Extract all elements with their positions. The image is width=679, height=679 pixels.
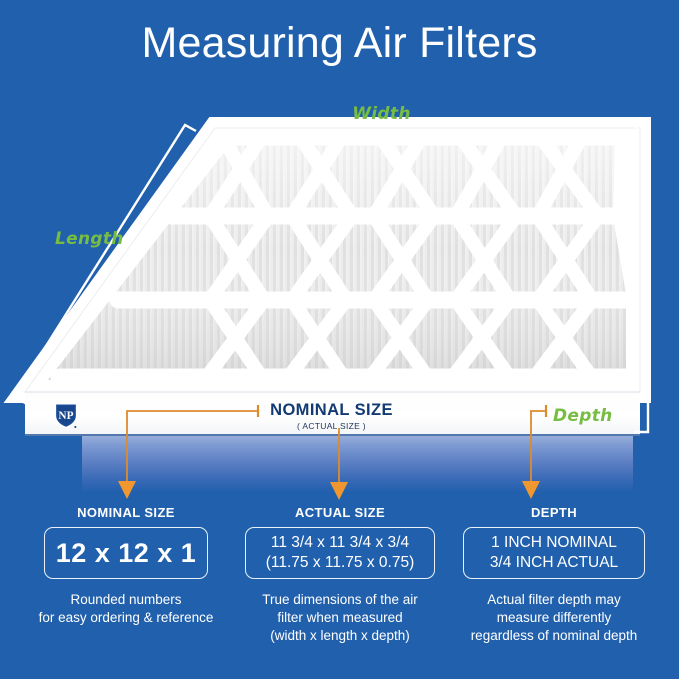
- infographic-root: Measuring Air Filters: [0, 0, 679, 679]
- caption-line: measure differently: [446, 609, 662, 627]
- value-text: 12 x 12 x 1: [56, 538, 197, 569]
- value-box-nominal-size[interactable]: 12 x 12 x 1: [44, 527, 208, 579]
- value-box-depth[interactable]: 1 INCH NOMINAL 3/4 INCH ACTUAL: [463, 527, 645, 579]
- caption-line: (width x length x depth): [232, 627, 448, 645]
- svg-text:NP: NP: [58, 410, 73, 422]
- value-line: (11.75 x 11.75 x 0.75): [266, 554, 415, 571]
- column-heading: NOMINAL SIZE: [12, 505, 240, 520]
- filter-front-face: [25, 392, 640, 436]
- column-heading: DEPTH: [440, 505, 668, 520]
- np-shield-logo: NP: [52, 401, 80, 429]
- value-line: 11 3/4 x 11 3/4 x 3/4: [271, 534, 409, 551]
- caption-line: Actual filter depth may: [446, 591, 662, 609]
- filter-top-face: [25, 128, 640, 392]
- label-depth: Depth: [553, 406, 613, 426]
- detail-columns: NOMINAL SIZE 12 x 12 x 1 Rounded numbers…: [0, 505, 679, 679]
- caption-line: True dimensions of the air: [232, 591, 448, 609]
- value-line: 3/4 INCH ACTUAL: [490, 554, 618, 571]
- label-width: Width: [0, 104, 679, 124]
- label-length: Length: [55, 229, 124, 249]
- caption-line: filter when measured: [232, 609, 448, 627]
- column-nominal-size: NOMINAL SIZE 12 x 12 x 1 Rounded numbers…: [12, 505, 240, 627]
- label-width-text: Width: [352, 104, 410, 124]
- value-text-block: 11 3/4 x 11 3/4 x 3/4 (11.75 x 11.75 x 0…: [266, 533, 415, 573]
- caption-line: for easy ordering & reference: [18, 609, 234, 627]
- column-caption: Actual filter depth may measure differen…: [440, 591, 668, 645]
- column-caption: True dimensions of the air filter when m…: [226, 591, 454, 645]
- caption-line: Rounded numbers: [18, 591, 234, 609]
- value-text-block: 1 INCH NOMINAL 3/4 INCH ACTUAL: [490, 533, 618, 573]
- value-line: 1 INCH NOMINAL: [491, 534, 617, 551]
- callout-arrowheads: [118, 481, 540, 500]
- value-box-actual-size[interactable]: 11 3/4 x 11 3/4 x 3/4 (11.75 x 11.75 x 0…: [245, 527, 435, 579]
- caption-line: regardless of nominal depth: [446, 627, 662, 645]
- column-actual-size: ACTUAL SIZE 11 3/4 x 11 3/4 x 3/4 (11.75…: [226, 505, 454, 645]
- column-caption: Rounded numbers for easy ordering & refe…: [12, 591, 240, 627]
- column-heading: ACTUAL SIZE: [226, 505, 454, 520]
- column-depth: DEPTH 1 INCH NOMINAL 3/4 INCH ACTUAL Act…: [440, 505, 668, 645]
